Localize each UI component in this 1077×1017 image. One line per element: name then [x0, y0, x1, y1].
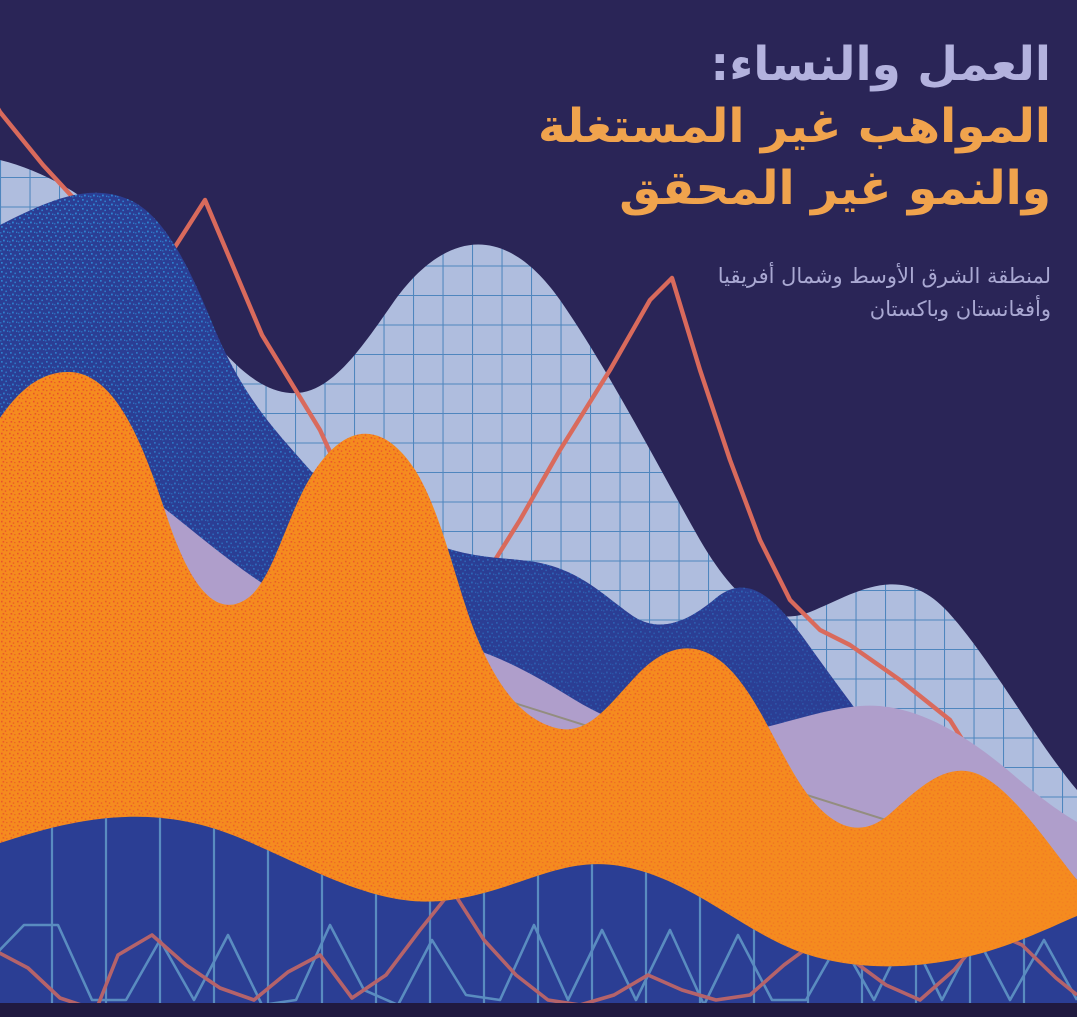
report-cover: العمل والنساء: المواهب غير المستغلة والن… [0, 0, 1077, 1017]
page-title: العمل والنساء: المواهب غير المستغلة والن… [457, 34, 1051, 220]
subtitle-line-2: وأفغانستان وباكستان [457, 293, 1051, 326]
title-line-2: المواهب غير المستغلة [457, 96, 1051, 158]
title-line-3: والنمو غير المحقق [457, 158, 1051, 220]
cover-subtitle: لمنطقة الشرق الأوسط وشمال أفريقيا وأفغان… [457, 260, 1051, 325]
cover-text-layer: العمل والنساء: المواهب غير المستغلة والن… [457, 0, 1077, 325]
title-line-1: العمل والنساء: [457, 34, 1051, 96]
subtitle-line-1: لمنطقة الشرق الأوسط وشمال أفريقيا [457, 260, 1051, 293]
bottom-navy-bar [0, 1003, 1077, 1017]
